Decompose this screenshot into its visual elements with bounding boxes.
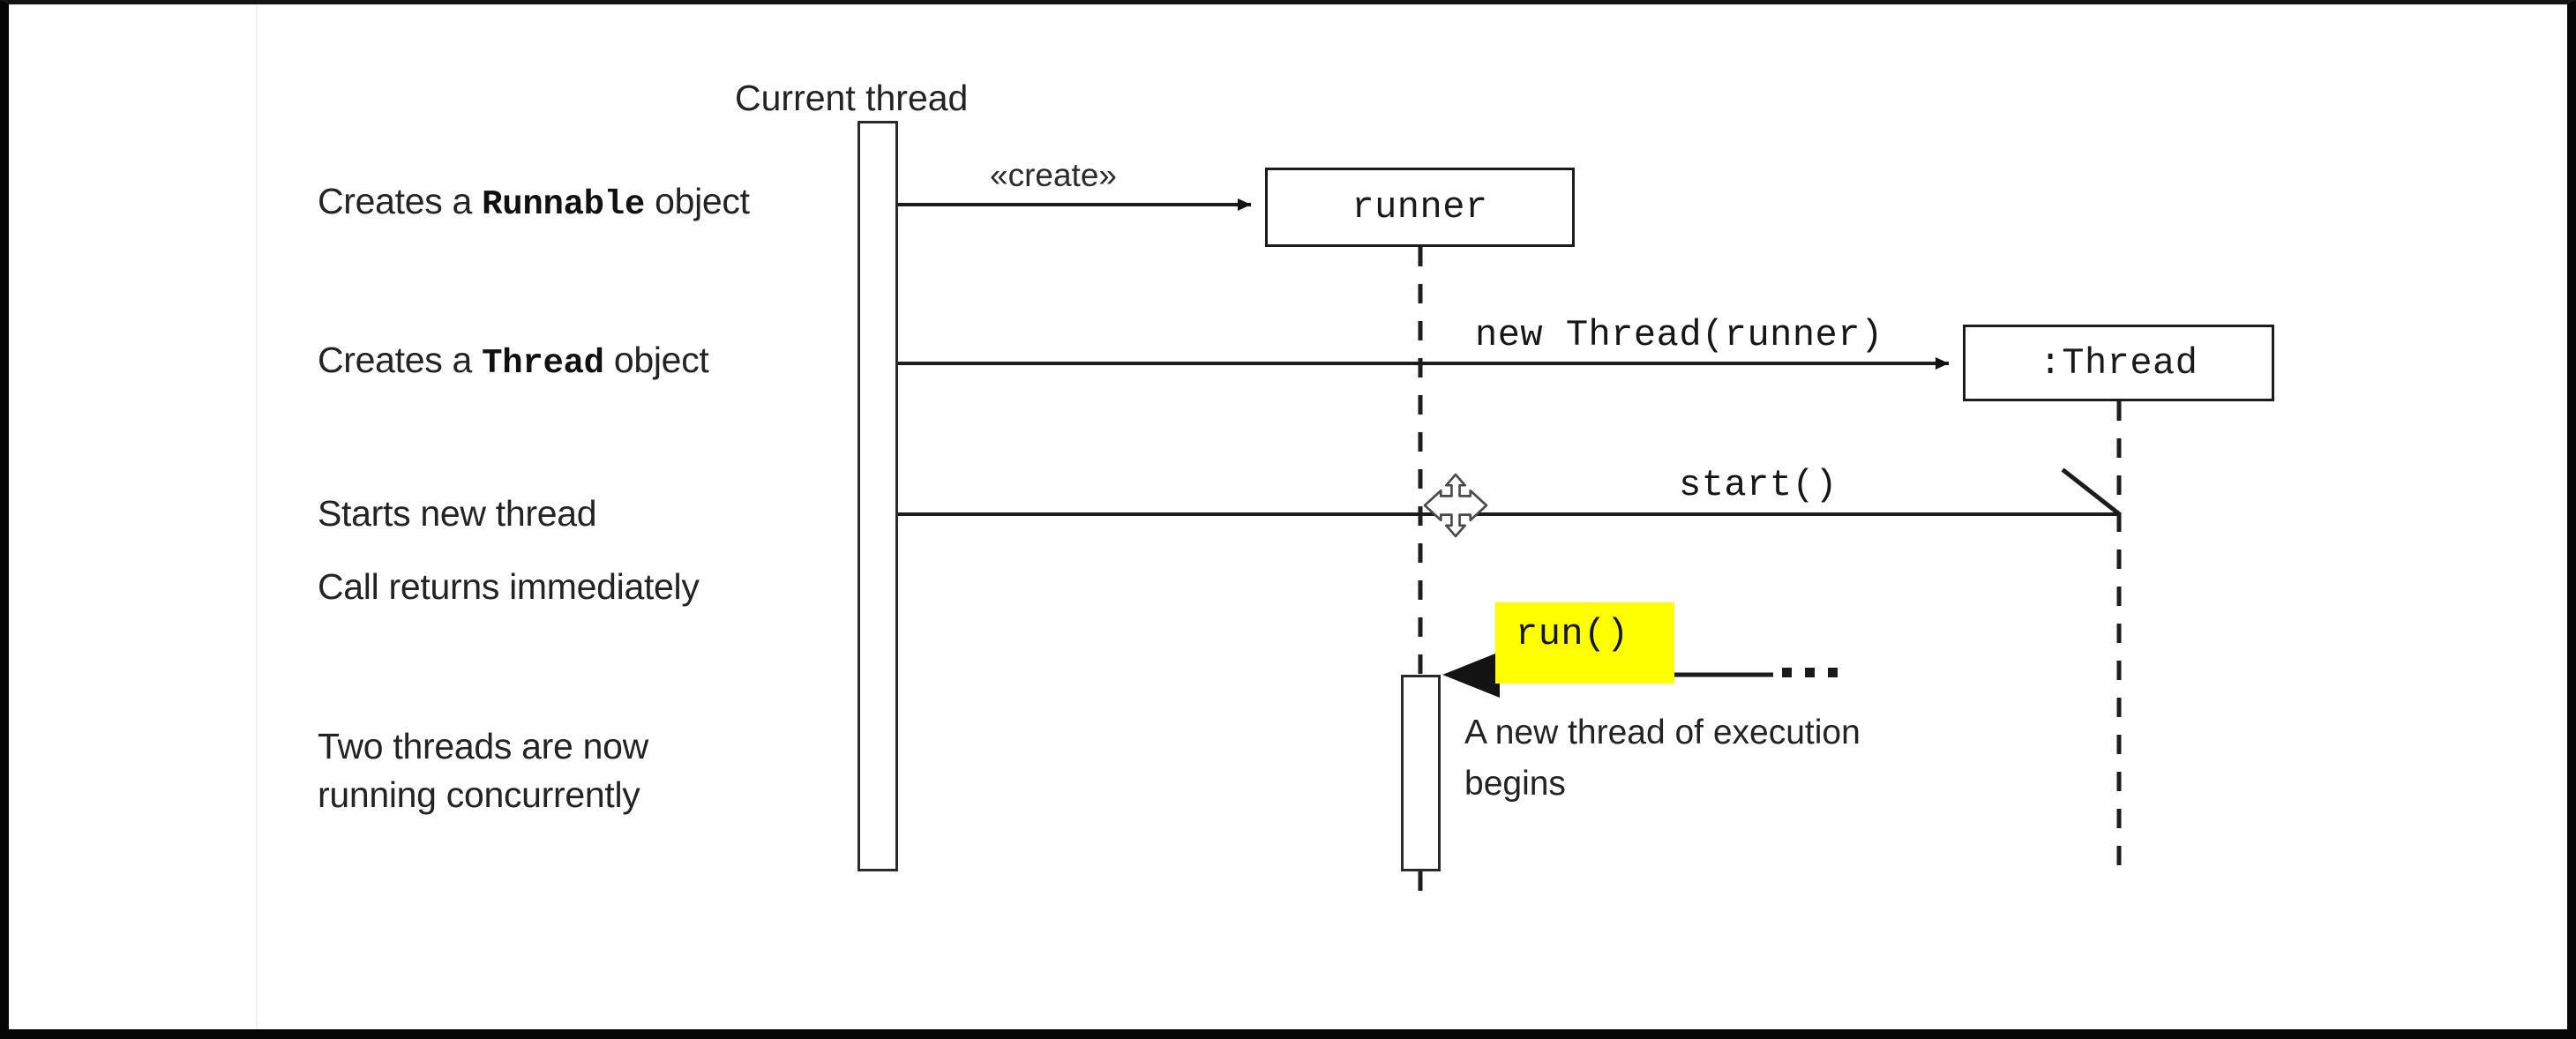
annotation-starts-new-thread: Starts new thread xyxy=(318,496,596,532)
note-line: begins xyxy=(1464,764,1861,804)
move-four-arrow-cursor-icon xyxy=(1422,472,1489,539)
note-line: A new thread of execution xyxy=(1464,713,1861,753)
object-box-runner[interactable]: runner xyxy=(1265,168,1575,247)
arrowhead-filled-run xyxy=(1442,652,1500,698)
activation-bar-runner xyxy=(1401,675,1441,871)
annotation-creates-thread: Creates a Thread object xyxy=(318,342,708,381)
object-box-thread[interactable]: :Thread xyxy=(1963,325,2274,401)
message-label-run: run() xyxy=(1516,613,1629,655)
annotation-text-plain: object xyxy=(645,181,750,221)
annotation-text-code: Runnable xyxy=(482,185,645,224)
message-label-create: «create» xyxy=(990,157,1117,194)
run-trailing-dot xyxy=(1782,668,1792,677)
activation-bar-current-thread xyxy=(857,121,898,871)
annotation-text-plain: Creates a xyxy=(318,340,482,380)
annotation-text-plain: object xyxy=(604,340,709,380)
object-label-runner: runner xyxy=(1352,186,1487,228)
message-label-new-thread: new Thread(runner) xyxy=(1475,314,1883,356)
annotation-creates-runnable: Creates a Runnable object xyxy=(318,183,750,222)
annotation-line: running concurrently xyxy=(318,777,648,813)
run-trailing-dot xyxy=(1828,668,1838,677)
object-label-thread: :Thread xyxy=(2040,342,2198,385)
annotation-two-threads-running: Two threads are nowrunning concurrently xyxy=(318,729,648,813)
annotation-text-plain: Creates a xyxy=(318,181,482,221)
annotation-text-code: Thread xyxy=(482,344,604,383)
arrowhead-open-half-start xyxy=(2064,471,2117,512)
message-label-start: start() xyxy=(1679,464,1838,506)
diagram-canvas: Current thread runner :Thread Creates a … xyxy=(0,0,2576,1039)
annotation-call-returns-immediately: Call returns immediately xyxy=(318,569,700,605)
note-new-thread-of-execution: A new thread of executionbegins xyxy=(1464,713,1861,804)
annotation-line: Two threads are now xyxy=(318,729,648,765)
move-cursor-glyph xyxy=(1422,472,1489,539)
run-trailing-dot xyxy=(1805,668,1815,677)
lifeline-title-current-thread: Current thread xyxy=(735,78,968,119)
